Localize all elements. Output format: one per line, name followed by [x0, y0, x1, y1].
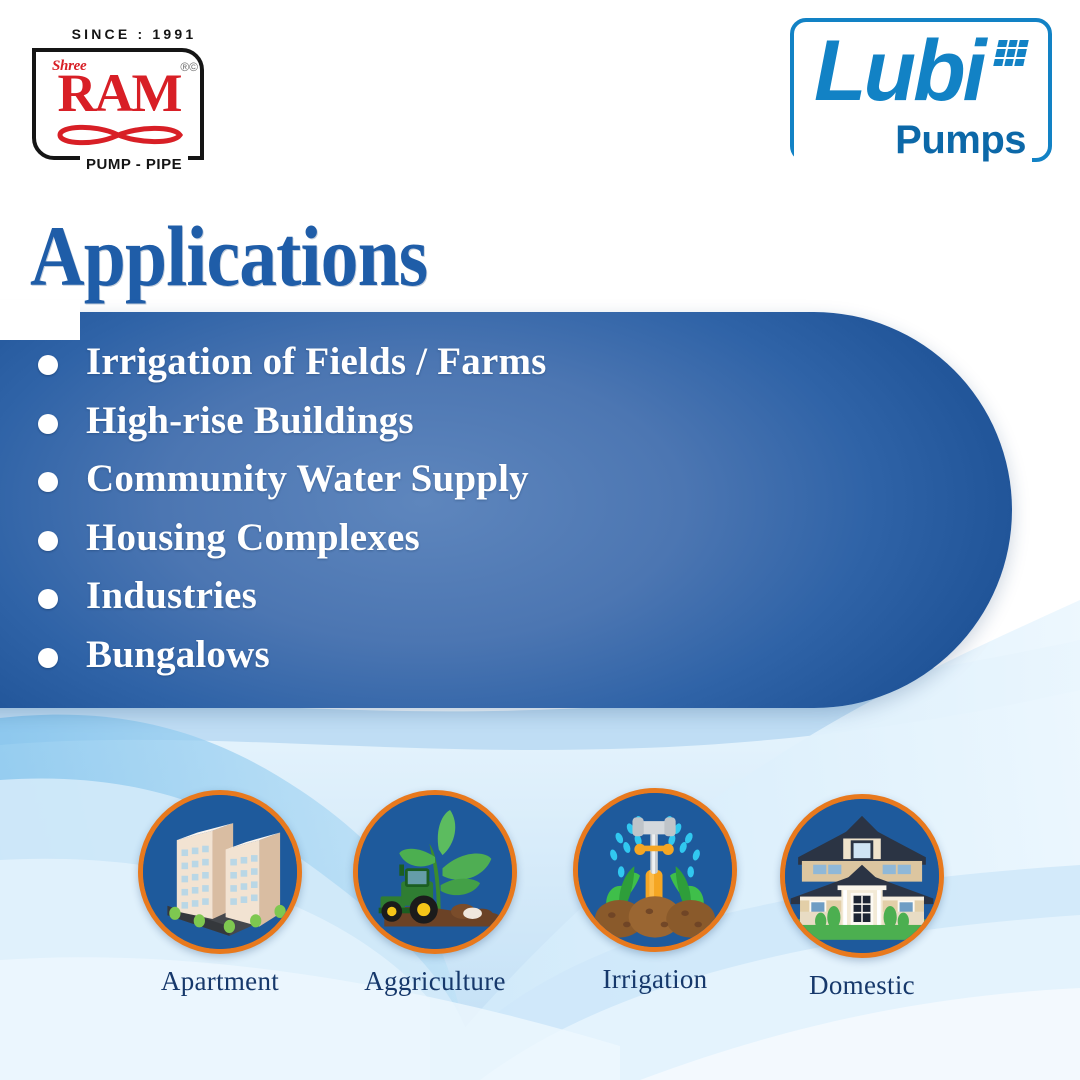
pumps-wordmark: Pumps	[885, 118, 1032, 162]
list-item: Bungalows	[30, 631, 910, 679]
list-item: High-rise Buildings	[30, 397, 910, 445]
apartment-buildings-icon	[138, 790, 302, 954]
ram-swirl-icon	[54, 122, 186, 148]
dot-grid-icon	[993, 40, 1029, 66]
list-item: Industries	[30, 572, 910, 620]
poster-canvas: SINCE : 1991 Shree RAM ®© PUMP - PIPE Lu…	[0, 0, 1080, 1080]
list-item: Housing Complexes	[30, 514, 910, 562]
lubi-pumps-logo: Lubi Pumps	[790, 18, 1052, 162]
sprinkler-icon	[573, 788, 737, 952]
tractor-plant-icon	[353, 790, 517, 954]
category-icon-row: Apartment	[0, 780, 1080, 1030]
panel-corner-notch	[0, 300, 80, 340]
shree-ram-logo: SINCE : 1991 Shree RAM ®© PUMP - PIPE	[24, 26, 212, 166]
lubi-wordmark: Lubi	[814, 26, 984, 116]
category-label: Aggriculture	[345, 966, 525, 997]
category-label: Irrigation	[565, 964, 745, 995]
pump-pipe-text: PUMP - PIPE	[80, 156, 188, 173]
category-apartment[interactable]: Apartment	[130, 790, 310, 997]
trademark-icon: ®©	[180, 60, 198, 74]
page-title: Applications	[30, 213, 427, 299]
category-label: Apartment	[130, 966, 310, 997]
ram-text: RAM	[44, 66, 194, 120]
category-label: Domestic	[772, 970, 952, 1001]
list-item: Irrigation of Fields / Farms	[30, 338, 910, 386]
since-text: SINCE : 1991	[54, 26, 214, 42]
list-item: Community Water Supply	[30, 455, 910, 503]
category-domestic[interactable]: Domestic	[772, 794, 952, 1001]
applications-list: Irrigation of Fields / Farms High-rise B…	[30, 338, 910, 689]
category-agriculture[interactable]: Aggriculture	[345, 790, 525, 997]
category-irrigation[interactable]: Irrigation	[565, 788, 745, 995]
house-icon	[780, 794, 944, 958]
